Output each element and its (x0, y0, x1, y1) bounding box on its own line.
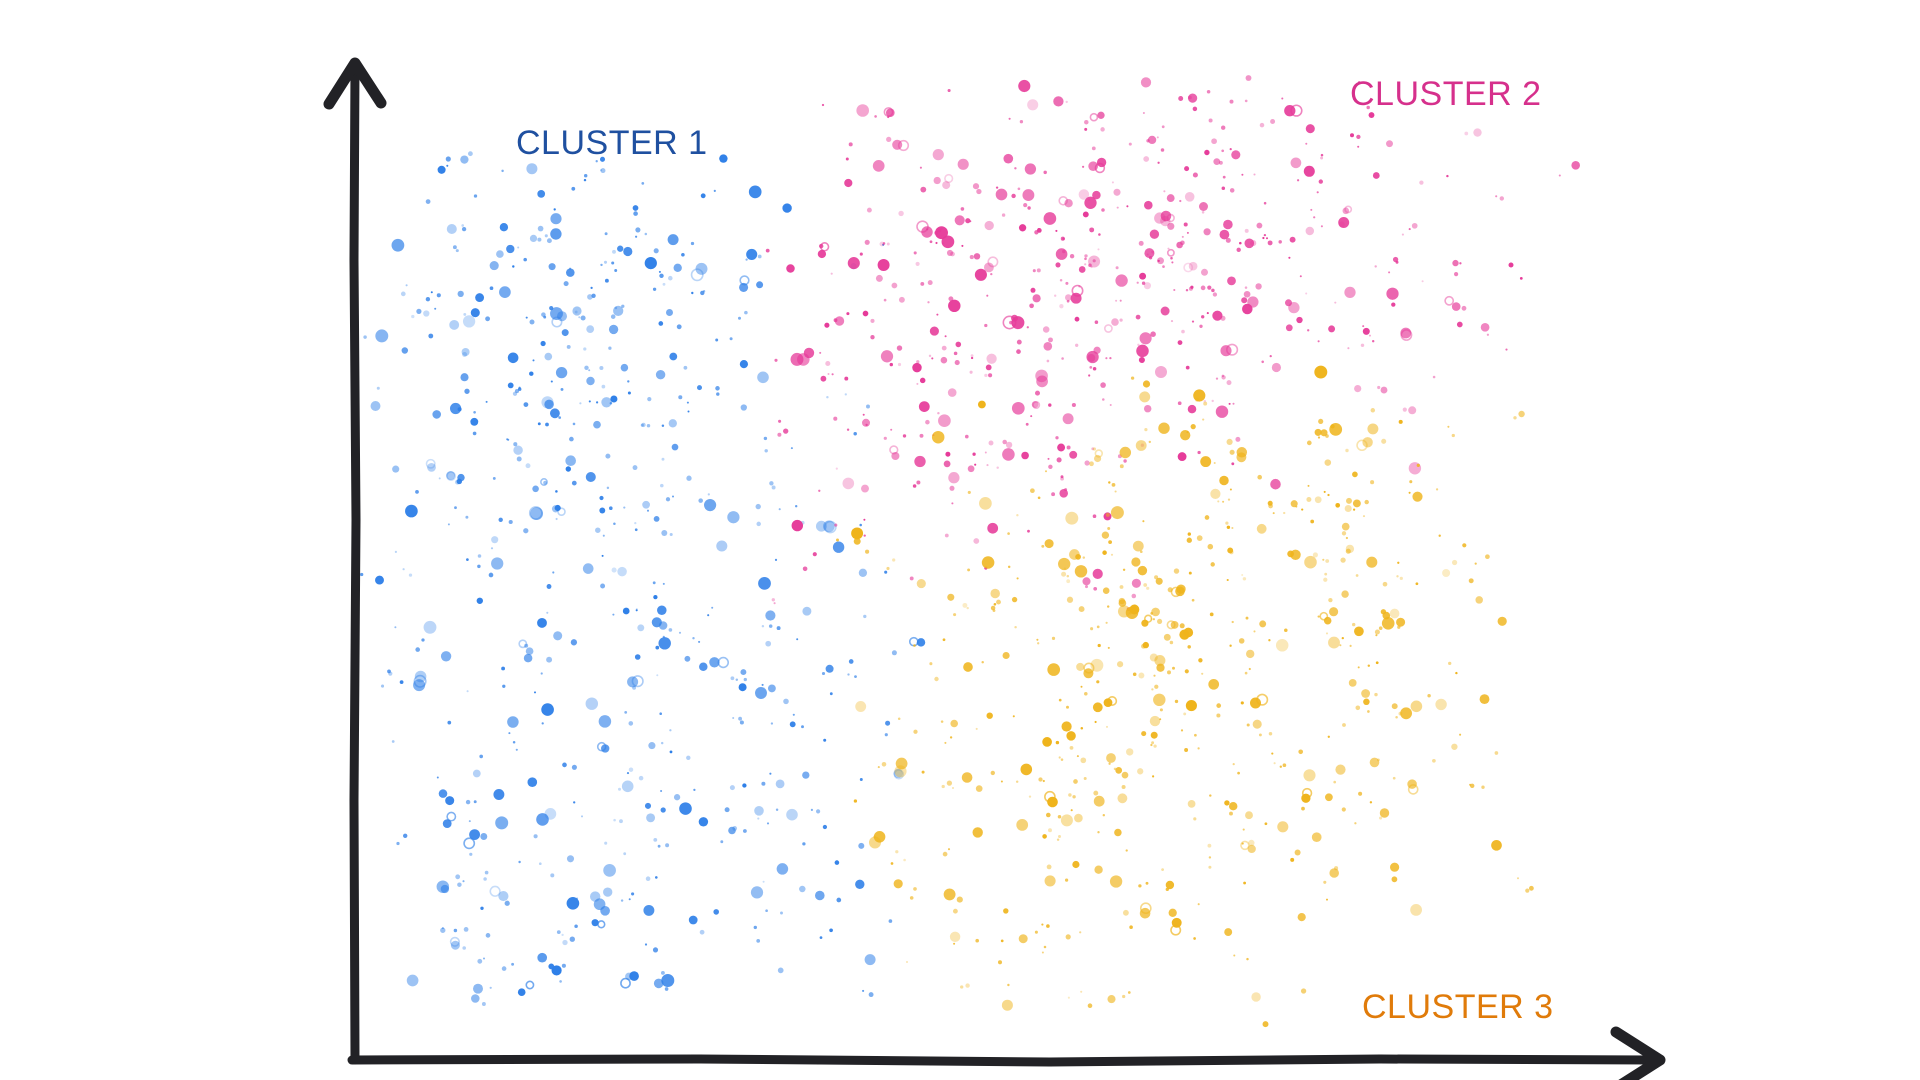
data-point (720, 840, 723, 843)
data-point-speck (916, 481, 920, 485)
data-point-speck (970, 255, 974, 259)
data-point (691, 292, 693, 294)
data-point-speck (627, 380, 629, 382)
data-point (1158, 422, 1169, 433)
data-point (1088, 1003, 1093, 1008)
data-point (1231, 462, 1234, 465)
data-point (571, 639, 577, 645)
data-point (423, 310, 429, 316)
data-point (1098, 644, 1101, 647)
data-point (916, 262, 920, 266)
data-point-speck (483, 877, 487, 881)
data-point (811, 809, 813, 811)
data-point (645, 257, 657, 269)
data-point (1036, 376, 1048, 388)
data-point (579, 402, 581, 404)
data-point (948, 89, 951, 92)
data-point (660, 790, 662, 792)
data-point (968, 465, 975, 472)
data-point (462, 880, 464, 882)
data-point (1213, 292, 1217, 296)
data-point-speck (1059, 304, 1063, 308)
data-point-speck (1161, 148, 1165, 152)
data-point (1043, 171, 1046, 174)
data-point (446, 165, 448, 167)
data-point (1222, 501, 1224, 503)
data-point (635, 528, 638, 531)
data-point-speck (473, 411, 476, 414)
data-point (1301, 509, 1303, 511)
data-point (658, 637, 670, 649)
data-point (1139, 357, 1145, 363)
data-point (1045, 470, 1047, 472)
data-point (1342, 523, 1350, 531)
data-point (662, 424, 664, 426)
data-point (1305, 143, 1307, 145)
data-point (641, 182, 644, 185)
data-point (913, 887, 917, 891)
data-point (994, 603, 997, 606)
data-point (755, 687, 767, 699)
data-point-speck (1193, 172, 1198, 177)
data-point-speck (426, 297, 430, 301)
data-point-speck (523, 258, 527, 262)
data-point-speck (885, 733, 888, 736)
data-point (1231, 527, 1233, 529)
data-point (679, 632, 681, 634)
data-point (698, 641, 700, 643)
data-point (855, 701, 866, 712)
data-point (613, 306, 623, 316)
data-point (392, 466, 399, 473)
data-point (1246, 75, 1252, 81)
data-point-speck (965, 983, 969, 987)
data-point (910, 576, 914, 580)
data-point (1272, 363, 1281, 372)
data-point-speck (1297, 179, 1299, 181)
data-point (1310, 520, 1314, 524)
data-point (906, 961, 908, 963)
data-point (1138, 673, 1144, 679)
data-point-speck (769, 624, 773, 628)
data-point-speck (1051, 492, 1055, 496)
data-point (1019, 224, 1026, 231)
data-point (1396, 618, 1405, 627)
data-point (1137, 768, 1143, 774)
data-point-speck (1361, 344, 1364, 347)
data-point (973, 827, 983, 837)
data-point (758, 255, 762, 259)
data-point (1069, 451, 1077, 459)
data-point (1043, 780, 1045, 782)
data-point (1212, 400, 1214, 402)
data-point (639, 776, 644, 781)
data-point (1352, 623, 1355, 626)
data-point (1075, 565, 1087, 577)
data-point (463, 315, 475, 327)
data-point (562, 940, 567, 945)
data-point (556, 367, 567, 378)
data-point (1139, 273, 1146, 280)
data-point-speck (1047, 864, 1052, 869)
data-point (1390, 863, 1399, 872)
data-point (1518, 411, 1524, 417)
data-point-speck (942, 785, 945, 788)
data-point-speck (468, 151, 473, 156)
data-point (1328, 325, 1335, 332)
data-point (1144, 201, 1153, 210)
data-point (975, 939, 979, 943)
data-point-speck (1253, 630, 1255, 632)
data-point (1376, 661, 1379, 664)
data-point-speck (1513, 416, 1516, 419)
data-point (1473, 128, 1481, 136)
data-point (1412, 223, 1418, 229)
data-point (654, 516, 660, 522)
data-point-speck (825, 361, 830, 366)
data-point (1239, 242, 1242, 245)
data-point-speck (1232, 621, 1234, 623)
data-point-speck (1201, 286, 1206, 291)
data-point (491, 547, 493, 549)
data-point (942, 235, 955, 248)
data-point-speck (1150, 744, 1152, 746)
data-point (489, 573, 494, 578)
data-point (1070, 254, 1074, 258)
data-point-speck (967, 568, 970, 571)
data-point-speck (661, 742, 663, 744)
data-point (942, 346, 947, 351)
data-point (621, 364, 629, 372)
data-point (1129, 925, 1133, 929)
data-point (589, 400, 591, 402)
data-point (511, 963, 514, 966)
data-point (943, 638, 946, 641)
data-point (1141, 77, 1151, 87)
data-point (1459, 262, 1461, 264)
data-point (1002, 213, 1005, 216)
data-point (601, 168, 606, 173)
data-point-speck (572, 481, 577, 486)
data-point (1107, 527, 1110, 530)
data-point (1291, 500, 1298, 507)
data-point (1342, 531, 1346, 535)
data-point (583, 347, 586, 350)
data-point (1259, 620, 1266, 627)
data-point-speck (1060, 279, 1063, 282)
data-point (1268, 501, 1273, 506)
data-point (1126, 849, 1128, 851)
data-point (1320, 157, 1323, 160)
data-point-speck (561, 934, 563, 936)
data-point-speck (572, 765, 577, 770)
data-point (474, 800, 477, 803)
data-point (475, 293, 484, 302)
data-point-speck (1328, 598, 1332, 602)
data-point (856, 104, 869, 117)
data-point (1342, 637, 1344, 639)
data-point (1505, 349, 1507, 351)
data-point (1446, 175, 1448, 177)
data-point-speck (1002, 440, 1007, 445)
data-point (684, 656, 690, 662)
data-point-speck (545, 234, 548, 237)
data-point (1276, 639, 1288, 651)
data-point (570, 937, 575, 942)
data-point (375, 329, 388, 342)
data-point-speck (446, 156, 451, 161)
data-point (1243, 882, 1246, 885)
data-point (1138, 566, 1147, 575)
data-point (913, 730, 917, 734)
data-point (754, 806, 764, 816)
data-point (1410, 904, 1422, 916)
data-point (439, 477, 441, 479)
data-point (1178, 96, 1183, 101)
data-point (1152, 775, 1154, 777)
data-point (1257, 475, 1262, 480)
data-point (537, 618, 547, 628)
data-point-speck (925, 420, 930, 425)
data-point (776, 808, 778, 810)
data-point (1345, 505, 1352, 512)
data-point-speck (1106, 513, 1110, 517)
data-point (629, 898, 631, 900)
data-point (1016, 349, 1021, 354)
data-point-speck (833, 417, 837, 421)
data-point (486, 401, 488, 403)
data-point (1156, 664, 1164, 672)
data-point (371, 401, 381, 411)
data-point (1001, 780, 1003, 782)
data-point-speck (1047, 360, 1050, 363)
data-point (1103, 587, 1110, 594)
data-point (778, 420, 781, 423)
data-point-speck (1084, 254, 1087, 257)
data-point (1230, 100, 1234, 104)
data-point-ring (1105, 325, 1112, 332)
data-point-speck (1229, 812, 1233, 816)
data-point-speck (1194, 734, 1197, 737)
data-point-speck (1160, 708, 1163, 711)
data-point (447, 721, 451, 725)
data-point (1412, 492, 1422, 502)
data-point (1084, 263, 1086, 265)
data-point (1129, 143, 1132, 146)
data-point (1174, 568, 1179, 573)
data-point (654, 979, 664, 989)
data-point-ring (945, 175, 953, 183)
data-point (634, 522, 636, 524)
data-point-speck (1375, 629, 1380, 634)
data-point (677, 324, 682, 329)
data-point (914, 456, 925, 467)
data-point-speck (1395, 716, 1398, 719)
data-point-speck (1097, 831, 1099, 833)
data-point (1080, 991, 1082, 993)
data-point (1151, 732, 1158, 739)
data-point (944, 461, 951, 468)
data-point-speck (953, 909, 958, 914)
data-point (486, 933, 491, 938)
data-point-speck (1356, 135, 1360, 139)
data-point (1097, 158, 1106, 167)
data-point (537, 953, 547, 963)
data-point (1066, 706, 1069, 709)
data-point (464, 389, 469, 394)
data-point-speck (989, 441, 994, 446)
data-point (1283, 763, 1287, 767)
data-point (1014, 626, 1016, 628)
data-point (950, 720, 958, 728)
data-point (1059, 756, 1061, 758)
data-point (469, 820, 471, 822)
data-point (962, 772, 973, 783)
data-point (887, 243, 890, 246)
data-point (1219, 161, 1223, 165)
data-point-speck (600, 264, 602, 266)
data-point (403, 568, 405, 570)
data-point (1433, 376, 1436, 379)
data-point-speck (1221, 375, 1225, 379)
data-point-speck (1064, 488, 1067, 491)
data-point (550, 213, 561, 224)
data-point-speck (869, 992, 874, 997)
data-point (609, 325, 618, 334)
data-point (727, 511, 739, 523)
data-point (1350, 133, 1354, 137)
data-point (591, 294, 595, 298)
data-point (1283, 512, 1285, 514)
data-point (454, 506, 457, 509)
data-point (697, 385, 702, 390)
data-point-speck (1157, 619, 1162, 624)
data-point-speck (1132, 594, 1137, 599)
data-point (566, 268, 575, 277)
data-point (976, 728, 978, 730)
data-point (437, 293, 441, 297)
data-point (687, 402, 689, 404)
data-point (1235, 437, 1240, 442)
data-point (1081, 686, 1083, 688)
data-point (1061, 758, 1064, 761)
data-point (1066, 731, 1075, 740)
data-point (440, 928, 445, 933)
data-point (920, 378, 926, 384)
data-point (1007, 984, 1009, 986)
data-point (974, 253, 980, 259)
data-point-speck (1052, 637, 1055, 640)
data-point (1172, 667, 1175, 670)
data-point (1200, 456, 1211, 467)
data-point (1062, 721, 1072, 731)
data-point (1072, 403, 1076, 407)
data-point (1257, 524, 1267, 534)
data-point (1044, 946, 1047, 949)
data-point (1469, 784, 1471, 786)
data-point (853, 432, 856, 435)
data-point (819, 244, 823, 248)
data-point (647, 397, 651, 401)
data-point (555, 490, 558, 493)
data-point (1056, 741, 1059, 744)
data-point (1067, 575, 1070, 578)
data-point (546, 657, 552, 663)
data-point (740, 720, 744, 724)
data-point (736, 679, 738, 681)
data-point (976, 785, 983, 792)
data-point (1045, 539, 1054, 548)
data-point (823, 739, 826, 742)
data-point (1208, 544, 1214, 550)
data-point-speck (518, 387, 520, 389)
data-point (515, 389, 519, 393)
data-point-speck (1162, 265, 1165, 268)
data-point (1335, 503, 1340, 508)
data-point (1327, 494, 1329, 496)
data-point (1369, 335, 1371, 337)
data-point-speck (744, 311, 748, 315)
data-point (1202, 419, 1204, 421)
data-point-speck (678, 395, 682, 399)
data-point (593, 421, 601, 429)
data-point (1303, 769, 1315, 781)
data-point-speck (1500, 196, 1504, 200)
data-point (1111, 318, 1119, 326)
data-point (1417, 464, 1420, 467)
data-point (779, 508, 781, 510)
data-point (1117, 793, 1127, 803)
data-point (1163, 190, 1165, 192)
data-point (892, 558, 895, 561)
data-point-speck (526, 463, 531, 468)
data-point (998, 960, 1002, 964)
data-point (556, 518, 558, 520)
data-point (545, 423, 549, 427)
data-point (1290, 237, 1296, 243)
data-point (951, 502, 953, 504)
data-point (1291, 157, 1302, 168)
data-point (1318, 340, 1320, 342)
data-point (786, 264, 795, 273)
data-point (1346, 545, 1354, 553)
data-point (1128, 991, 1131, 994)
data-point (602, 555, 604, 557)
data-point (508, 352, 519, 363)
data-point (499, 518, 503, 522)
series-cluster-3 (836, 366, 1534, 1027)
data-point (544, 400, 554, 410)
data-point (1230, 188, 1235, 193)
data-point-speck (880, 242, 885, 247)
data-point (693, 789, 695, 791)
data-point (1055, 262, 1060, 267)
data-point-speck (1397, 626, 1400, 629)
data-point (526, 317, 528, 319)
data-point (1079, 189, 1090, 200)
data-point-speck (1122, 995, 1125, 998)
data-point (1089, 227, 1094, 232)
data-point-speck (1048, 828, 1052, 832)
data-point (1029, 795, 1031, 797)
data-point-speck (1100, 127, 1104, 131)
data-point (406, 284, 408, 286)
data-point (890, 429, 892, 431)
data-point (534, 834, 538, 838)
data-point-speck (1323, 578, 1327, 582)
data-point (548, 963, 554, 969)
data-point-speck (1230, 450, 1235, 455)
